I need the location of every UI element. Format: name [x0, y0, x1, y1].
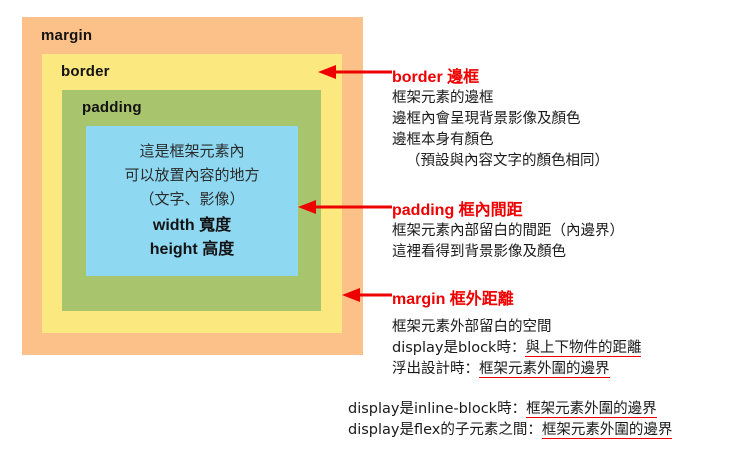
footer-line-1: display是inline-block時：框架元素外圍的邊界	[348, 399, 672, 420]
padding-layer: padding 這是框架元素內 可以放置內容的地方 （文字、影像） width …	[62, 90, 321, 311]
annotation-margin-line-2-prefix: display是block時：	[392, 340, 525, 356]
content-width-label: width 寬度	[153, 217, 231, 234]
arrow-margin-icon	[342, 287, 392, 303]
annotation-padding-line-2: 這裡看得到背景影像及顏色	[392, 242, 624, 263]
content-dimensions: width 寬度 height 高度	[86, 214, 298, 262]
footer-line-2-underlined: 框架元素外圍的邊界	[542, 422, 673, 439]
annotation-title-padding: padding 框內間距	[392, 196, 523, 220]
border-layer: border padding 這是框架元素內 可以放置內容的地方 （文字、影像）…	[42, 54, 342, 333]
annotation-body-padding: 框架元素內部留白的間距（內邊界） 這裡看得到背景影像及顏色	[392, 221, 624, 263]
content-line-3: （文字、影像）	[139, 190, 244, 208]
annotation-margin-line-3: 浮出設計時：框架元素外圍的邊界	[392, 359, 641, 380]
annotation-border-line-4: （預設與內容文字的顏色相同）	[392, 151, 609, 172]
footer-line-1-prefix: display是inline-block時：	[348, 401, 526, 417]
annotation-border-line-1: 框架元素的邊框	[392, 88, 609, 109]
annotation-padding-line-1: 框架元素內部留白的間距（內邊界）	[392, 221, 624, 242]
padding-layer-label: padding	[82, 99, 142, 116]
arrow-padding-icon	[298, 199, 392, 215]
content-height-label: height 高度	[150, 241, 234, 258]
content-line-2: 可以放置內容的地方	[124, 166, 259, 184]
border-layer-label: border	[61, 63, 110, 80]
footer-line-1-underlined: 框架元素外圍的邊界	[526, 401, 657, 418]
footer-line-2-prefix: display是flex的子元素之間：	[348, 422, 542, 438]
annotation-title-margin: margin 框外距離	[392, 285, 514, 309]
annotation-margin-line-3-prefix: 浮出設計時：	[392, 361, 479, 377]
annotation-margin-line-3-underlined: 框架元素外圍的邊界	[479, 361, 610, 378]
box-model-diagram: margin border padding 這是框架元素內 可以放置內容的地方 …	[22, 17, 363, 355]
margin-layer-label: margin	[41, 27, 92, 44]
annotation-body-margin: 框架元素外部留白的空間 display是block時：與上下物件的距離 浮出設計…	[392, 317, 641, 380]
footer-notes: display是inline-block時：框架元素外圍的邊界 display是…	[348, 399, 672, 441]
annotation-margin-line-1: 框架元素外部留白的空間	[392, 317, 641, 338]
annotation-body-border: 框架元素的邊框 邊框內會呈現背景影像及顏色 邊框本身有顏色 （預設與內容文字的顏…	[392, 88, 609, 172]
content-layer: 這是框架元素內 可以放置內容的地方 （文字、影像） width 寬度 heigh…	[86, 126, 298, 276]
arrow-border-icon	[318, 64, 392, 80]
footer-line-2: display是flex的子元素之間：框架元素外圍的邊界	[348, 420, 672, 441]
annotation-margin-line-2: display是block時：與上下物件的距離	[392, 338, 641, 359]
margin-layer: margin border padding 這是框架元素內 可以放置內容的地方 …	[22, 17, 363, 355]
annotation-margin-line-2-underlined: 與上下物件的距離	[525, 340, 641, 357]
annotation-border-line-2: 邊框內會呈現背景影像及顏色	[392, 109, 609, 130]
content-line-1: 這是框架元素內	[139, 142, 244, 160]
annotation-title-border: border 邊框	[392, 63, 479, 87]
content-description: 這是框架元素內 可以放置內容的地方 （文字、影像）	[86, 139, 298, 211]
annotation-border-line-3: 邊框本身有顏色	[392, 130, 609, 151]
annotation-margin-line-1-text: 框架元素外部留白的空間	[392, 319, 552, 335]
